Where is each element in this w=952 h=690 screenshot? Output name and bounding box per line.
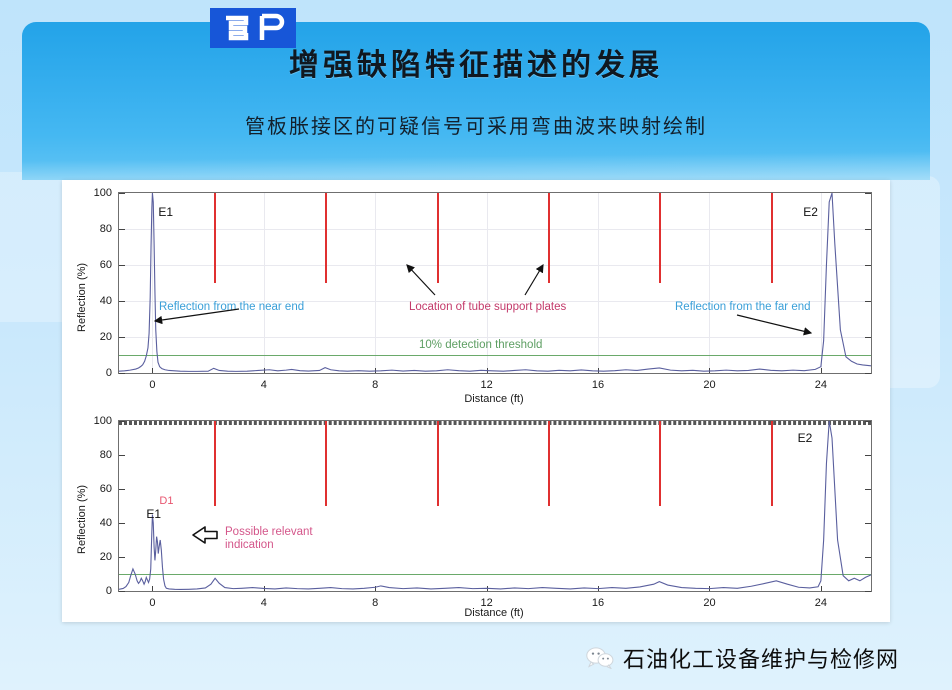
gridline-vertical [375,193,376,373]
x-axis-tick-mark [152,368,153,373]
x-axis-tick-label: 8 [372,379,378,391]
y-axis-tick-mark [119,373,125,374]
y-axis-tick-label: 100 [94,187,112,199]
y-axis-tick-mark [865,265,871,266]
block-arrow-icon [119,421,871,591]
y-axis-tick-mark [119,265,125,266]
y-axis-tick-mark [119,337,125,338]
gridline-horizontal [119,229,871,230]
chart-top-y-axis-label: Reflection (%) [76,263,88,332]
x-axis-tick-label: 24 [815,379,827,391]
y-axis-tick-mark [865,455,871,456]
marker-label-e2: E2 [798,431,813,445]
x-axis-tick-label: 16 [592,597,604,609]
tube-support-plate-line [437,193,439,283]
tube-support-plate-line [325,193,327,283]
y-axis-tick-mark [119,421,125,422]
x-axis-tick-mark [598,586,599,591]
chart-top: Reflection (%) Distance (ft) 02040608010… [62,180,890,412]
x-axis-tick-label: 0 [149,379,155,391]
y-axis-tick-mark [865,591,871,592]
signal-trace [119,421,871,591]
y-axis-tick-label: 0 [106,367,112,379]
x-axis-tick-mark [598,368,599,373]
annotation-possible-indication: Possible relevantindication [225,526,313,552]
gridline-vertical [264,193,265,373]
y-axis-tick-mark [119,489,125,490]
y-axis-tick-mark [865,337,871,338]
x-axis-tick-mark [821,586,822,591]
x-axis-tick-label: 8 [372,597,378,609]
y-axis-tick-mark [119,557,125,558]
tube-support-plate-line [771,193,773,283]
chart-bottom-x-axis-label: Distance (ft) [464,607,523,619]
chart-top-x-axis-label: Distance (ft) [464,393,523,405]
detection-threshold-line [119,355,871,356]
gridline-vertical [152,193,153,373]
annotation-threshold: 10% detection threshold [419,339,542,351]
detection-threshold-line [119,574,871,575]
tube-support-plate-line [659,193,661,283]
x-axis-tick-mark [709,586,710,591]
x-axis-tick-mark [487,586,488,591]
x-axis-tick-label: 20 [703,379,715,391]
x-axis-tick-label: 24 [815,597,827,609]
x-axis-tick-label: 0 [149,597,155,609]
header-swoosh [22,151,930,180]
y-axis-tick-label: 0 [106,585,112,597]
tube-support-plate-line [659,421,661,506]
x-axis-tick-mark [375,586,376,591]
chart-top-plot-area: 02040608010004812162024E1E2Reflection fr… [118,192,872,374]
y-axis-tick-mark [865,373,871,374]
x-axis-tick-mark [375,368,376,373]
tube-support-plate-line [437,421,439,506]
wechat-icon [586,647,614,669]
page-subtitle: 管板胀接区的可疑信号可采用弯曲波来映射绘制 [0,110,952,139]
x-axis-tick-mark [264,368,265,373]
chart-panel: Reflection (%) Distance (ft) 02040608010… [62,180,890,622]
gridline-vertical [709,193,710,373]
y-axis-tick-label: 80 [100,449,112,461]
y-axis-tick-mark [865,229,871,230]
x-axis-tick-label: 12 [481,597,493,609]
gridline-horizontal [119,424,871,425]
x-axis-tick-mark [487,368,488,373]
y-axis-tick-mark [119,591,125,592]
annotation-support-plates: Location of tube support plates [409,301,566,313]
marker-label-e1: E1 [158,205,173,219]
y-axis-tick-mark [865,301,871,302]
y-axis-tick-label: 60 [100,259,112,271]
y-axis-tick-mark [119,301,125,302]
annotation-possible-indication-line1: Possible relevant [225,526,313,539]
x-axis-tick-label: 20 [703,597,715,609]
y-axis-tick-label: 60 [100,483,112,495]
page-title: 增强缺陷特征描述的发展 [0,40,952,84]
marker-label-e1: E1 [146,507,161,521]
annotation-near-end: Reflection from the near end [159,301,304,313]
chart-bottom-y-axis-label: Reflection (%) [76,485,88,554]
x-axis-tick-mark [821,368,822,373]
y-axis-tick-label: 100 [94,415,112,427]
tube-support-plate-line [325,421,327,506]
y-axis-tick-mark [865,557,871,558]
x-axis-tick-label: 4 [261,379,267,391]
site-logo [210,8,296,48]
x-axis-tick-mark [152,586,153,591]
gridline-horizontal [119,265,871,266]
gridline-horizontal [119,337,871,338]
y-axis-tick-mark [865,489,871,490]
x-axis-tick-mark [264,586,265,591]
tube-support-plate-line [214,421,216,506]
y-axis-tick-mark [119,455,125,456]
x-axis-tick-label: 4 [261,597,267,609]
x-axis-tick-label: 12 [481,379,493,391]
chart-bottom-plot-area: 02040608010004812162024E1D1E2Possible re… [118,420,872,592]
gridline-vertical [821,193,822,373]
annotation-possible-indication-line2: indication [225,539,313,552]
x-axis-tick-mark [709,368,710,373]
y-axis-tick-label: 20 [100,551,112,563]
chart-bottom: Reflection (%) Distance (ft) 02040608010… [62,412,890,622]
tube-support-plate-line [548,421,550,506]
tube-support-plate-line [548,193,550,283]
y-axis-tick-label: 40 [100,517,112,529]
y-axis-tick-mark [119,523,125,524]
y-axis-tick-mark [119,193,125,194]
x-axis-tick-label: 16 [592,379,604,391]
marker-label-e2: E2 [803,205,818,219]
y-axis-tick-label: 40 [100,295,112,307]
y-axis-tick-label: 80 [100,223,112,235]
gridline-vertical [598,193,599,373]
tube-support-plate-line [214,193,216,283]
y-axis-tick-mark [865,523,871,524]
footer-watermark: 石油化工设备维护与检修网 [586,640,899,676]
y-axis-tick-mark [119,229,125,230]
y-axis-tick-mark [865,421,871,422]
tube-support-plate-line [771,421,773,506]
y-axis-tick-label: 20 [100,331,112,343]
marker-label-d1: D1 [159,495,173,507]
y-axis-tick-mark [865,193,871,194]
annotation-far-end: Reflection from the far end [675,301,811,313]
footer-text: 石油化工设备维护与检修网 [623,642,899,674]
